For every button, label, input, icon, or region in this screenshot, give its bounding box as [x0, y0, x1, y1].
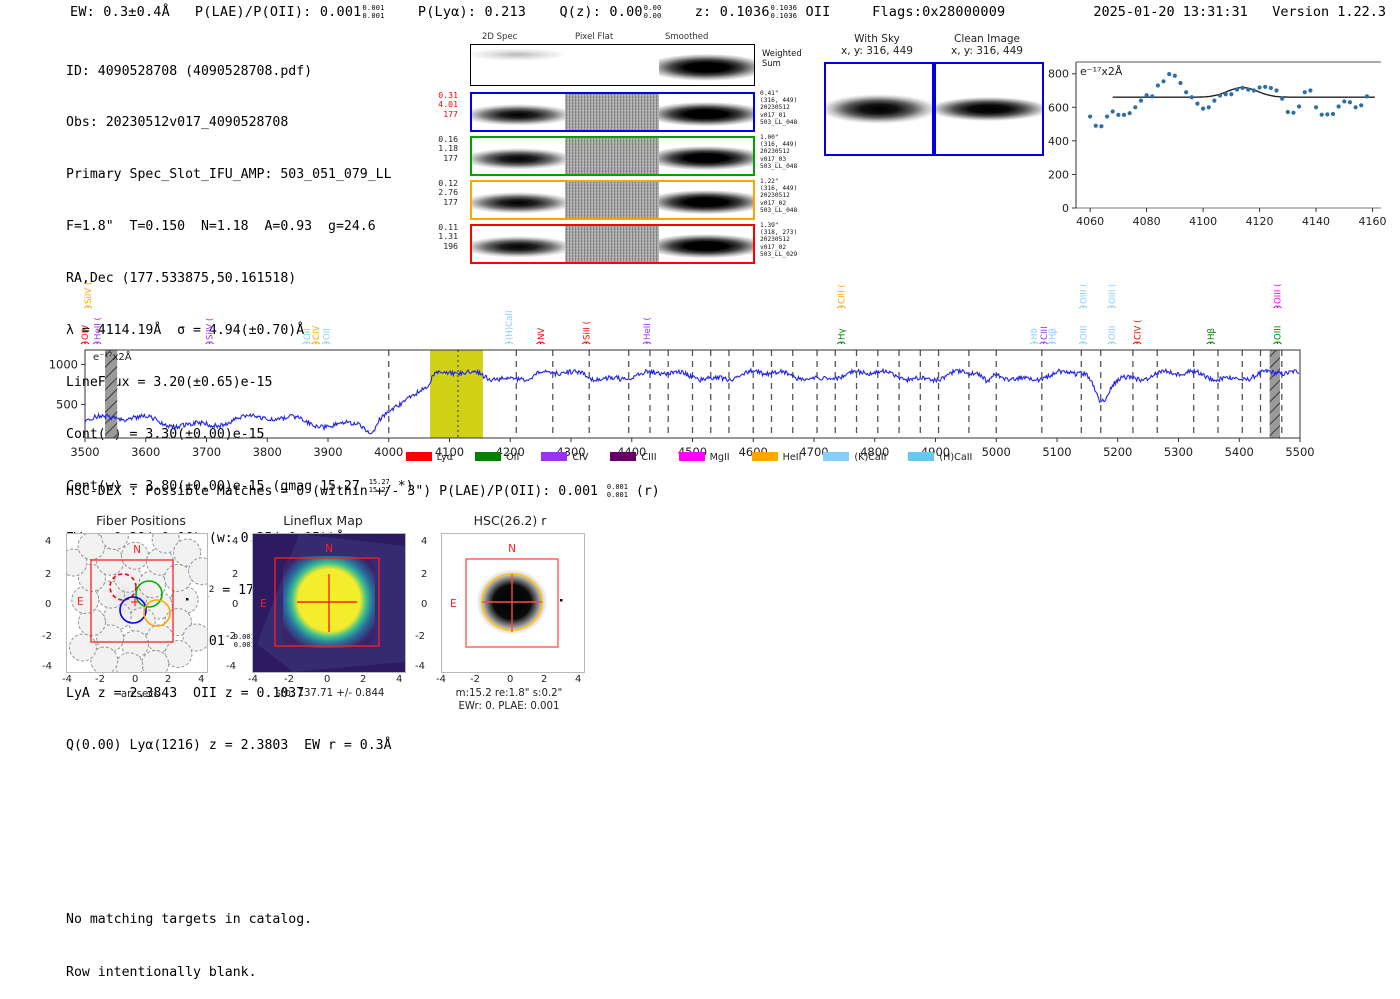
panel-title-fiber-positions: Fiber Positions	[66, 513, 216, 528]
svg-text:(H)CaII: (H)CaII	[505, 310, 515, 340]
hsc-xtick-1: -2	[470, 674, 480, 685]
cutout-with-sky-title: With Sky	[822, 33, 932, 45]
svg-text:800: 800	[1048, 68, 1069, 81]
legend-item-1: OII	[475, 452, 519, 463]
hsc-ytick-4: -4	[415, 661, 425, 672]
spec2d-row1-image-flat	[565, 94, 659, 130]
svg-text:600: 600	[1048, 101, 1069, 114]
fiber-xtick-4: 4	[198, 674, 204, 685]
svg-text:CIII (: CIII (	[838, 284, 848, 304]
header-plae-label: P(LAE)/P(OII): 0.001	[195, 4, 362, 20]
header-qz: Q(z): 0.00	[559, 4, 642, 20]
info-classification: Q(0.00) Lyα(1216) z = 2.3803 EW r = 0.3Å	[66, 737, 414, 754]
legend-label-6: (K)CaII	[854, 452, 886, 463]
spec2d-row4-image-2d	[472, 226, 565, 262]
legend-swatch-1	[475, 452, 501, 461]
svg-text:4080: 4080	[1133, 215, 1161, 228]
svg-text:e⁻¹⁷x2Å: e⁻¹⁷x2Å	[93, 350, 132, 363]
legend-item-0: Lyα	[406, 452, 453, 463]
fiber-xlabel: arcsecs	[85, 689, 195, 702]
lfm-ytick-2: 0	[232, 599, 238, 610]
hsc-xtick-0: -4	[436, 674, 446, 685]
svg-text:HeII (: HeII (	[643, 317, 653, 340]
spec2d-row4-image-flat	[565, 226, 659, 262]
spec2d-row3-left-label: 0.12 2.76 177	[412, 179, 458, 207]
hsc-ytick-2: 0	[421, 599, 427, 610]
footer-note: No matching targets in catalog. Row inte…	[66, 876, 312, 999]
svg-text:CIV (: CIV (	[1133, 320, 1143, 341]
svg-text:OIII (: OIII (	[1274, 284, 1284, 304]
spec2d-row3-image-smoothed	[659, 182, 753, 218]
svg-text:4160: 4160	[1359, 215, 1386, 228]
header-z: z: 0.1036	[695, 4, 770, 20]
legend-label-5: HeII	[783, 452, 802, 463]
spec2d-row1-image-smoothed	[659, 94, 753, 130]
fiber-positions-svg: NE	[67, 534, 207, 672]
spec2d-col-title-smoothed: Smoothed	[665, 32, 708, 42]
spec2d-row-weighted-sum[interactable]	[470, 44, 755, 86]
svg-text:500: 500	[56, 397, 78, 411]
header-z-kind: OII	[806, 4, 831, 20]
spec2d-row2-right-label: 1.00" (316, 449) 20230512 v017_03 503_LL…	[760, 134, 797, 170]
fiber-ytick-2: 0	[45, 599, 51, 610]
spec2d-row2-left-label: 0.16 1.18 177	[412, 135, 458, 163]
cutout-title-clean: Clean Image x, y: 316, 449	[927, 33, 1047, 57]
svg-text:4120: 4120	[1246, 215, 1274, 228]
hsc-sub-label: m:15.2 re:1.8" s:0.2"	[419, 688, 599, 701]
legend-swatch-2	[541, 452, 567, 461]
cutout-clean-title: Clean Image	[927, 33, 1047, 45]
fiber-ytick-0: 4	[45, 536, 51, 547]
svg-text:OIII (: OIII (	[1079, 284, 1089, 304]
full-spectrum-svg: 5001000350036003700380039004000410042004…	[0, 268, 1400, 478]
svg-text:E: E	[450, 598, 457, 610]
lfm-xtick-2: 0	[324, 674, 330, 685]
legend-label-4: MgII	[710, 452, 730, 463]
lfm-sub-label: s/b: 137.71 +/- 0.844	[240, 688, 420, 701]
svg-text:0: 0	[1062, 202, 1069, 215]
lfm-ytick-1: 2	[232, 569, 238, 580]
spec2d-row-4[interactable]	[470, 224, 755, 264]
svg-text:SiIV (: SiIV (	[206, 318, 216, 340]
legend-swatch-6	[823, 452, 849, 461]
legend-label-0: Lyα	[437, 452, 453, 463]
lfm-ytick-0: 4	[232, 536, 238, 547]
panel-title-lineflux-map: Lineflux Map	[243, 513, 403, 528]
legend-item-6: (K)CaII	[823, 452, 886, 463]
svg-text:4100: 4100	[1189, 215, 1217, 228]
spec2d-row2-image-flat	[565, 138, 659, 174]
svg-text:SiIV (: SiIV (	[84, 282, 94, 304]
svg-text:e⁻¹⁷x2Å: e⁻¹⁷x2Å	[1080, 65, 1123, 78]
svg-text:OIV: OIV	[81, 325, 91, 340]
spec2d-row4-left-label: 0.11 1.31 196	[412, 223, 458, 251]
fiber-ytick-4: -4	[42, 661, 52, 672]
lfm-ytick-4: -4	[226, 661, 236, 672]
svg-text:OIII: OIII	[1079, 326, 1089, 340]
fiber-xtick-0: -4	[62, 674, 72, 685]
cutout-with-sky-box[interactable]	[824, 62, 934, 156]
hsc-ytick-1: 2	[421, 569, 427, 580]
fiber-xtick-1: -2	[95, 674, 105, 685]
info-obs: Obs: 20230512v017_4090528708	[66, 114, 414, 131]
hsc-r-svg: NE	[442, 534, 584, 672]
legend-label-7: (H)CaII	[939, 452, 972, 463]
fiber-ytick-1: 2	[45, 569, 51, 580]
svg-text:OII: OII	[322, 328, 332, 340]
lfm-xtick-1: -2	[284, 674, 294, 685]
svg-text:E: E	[77, 596, 84, 608]
footer-line-1: No matching targets in catalog.	[66, 911, 312, 929]
spec2d-image-smoothed	[659, 45, 754, 85]
svg-text:Hγ: Hγ	[838, 328, 848, 340]
hsc-r-panel[interactable]: NE	[441, 533, 585, 673]
svg-text:Hδ: Hδ	[1030, 328, 1040, 340]
hsc-dex-summary: HSC-DEX : Possible Matches = 0 (within +…	[66, 483, 660, 499]
svg-text:OIII: OIII	[1274, 326, 1284, 340]
info-primary-spec-slot: Primary Spec_Slot_IFU_AMP: 503_051_079_L…	[66, 166, 414, 183]
cutout-title-with-sky: With Sky x, y: 316, 449	[822, 33, 932, 57]
legend-swatch-7	[908, 452, 934, 461]
spec2d-row2-image-2d	[472, 138, 565, 174]
panel-title-hsc-r: HSC(26.2) r	[430, 513, 590, 528]
hsc-sub-label-2: EWr: 0. PLAE: 0.001	[419, 701, 599, 714]
legend-label-2: CIV	[572, 452, 588, 463]
spec2d-panel-group: 2D Spec Pixel Flat Smoothed Weighted Sum…	[460, 32, 770, 262]
fiber-ytick-3: -2	[42, 631, 52, 642]
svg-text:SiII (: SiII (	[582, 321, 592, 340]
line-fit-svg: 0200400600800406040804100412041404160e⁻¹…	[1036, 48, 1386, 248]
svg-text:4060: 4060	[1076, 215, 1104, 228]
header-version: Version 1.22.3	[1272, 4, 1386, 20]
cutout-clean-box[interactable]	[934, 62, 1044, 156]
spec2d-col-title-flat: Pixel Flat	[575, 32, 613, 42]
spec2d-row-3[interactable]	[470, 180, 755, 220]
lfm-xtick-3: 2	[360, 674, 366, 685]
header-plya: P(Lyα): 0.213	[418, 4, 526, 20]
lfm-ytick-3: -2	[226, 631, 236, 642]
cutout-clean-coords: x, y: 316, 449	[927, 45, 1047, 57]
spec2d-image-flat	[564, 45, 659, 85]
spec2d-row3-right-label: 1.22" (316, 449) 20230512 v017_02 503_LL…	[760, 178, 797, 214]
legend-label-1: OII	[506, 452, 519, 463]
legend-label-3: CIII	[641, 452, 656, 463]
spec2d-row-1[interactable]	[470, 92, 755, 132]
svg-text:1000: 1000	[49, 357, 78, 371]
legend-swatch-0	[406, 452, 432, 461]
svg-text:400: 400	[1048, 135, 1069, 148]
hsc-xtick-3: 2	[541, 674, 547, 685]
info-id: ID: 4090528708 (4090528708.pdf)	[66, 63, 414, 80]
fiber-xtick-2: 0	[132, 674, 138, 685]
spec2d-col-title-2d: 2D Spec	[482, 32, 517, 42]
lineflux-map-panel[interactable]: NE	[252, 533, 406, 673]
svg-text:Hβ: Hβ	[1048, 328, 1058, 340]
cutout-with-sky-image	[826, 64, 932, 154]
svg-text:E: E	[260, 598, 267, 610]
spec2d-row3-image-flat	[565, 182, 659, 218]
spec2d-row3-image-2d	[472, 182, 565, 218]
header-datetime-version: 2025-01-20 13:31:31 Version 1.22.3	[1093, 4, 1386, 20]
header-z-errors: 0.10360.1036	[771, 4, 798, 20]
fiber-xtick-3: 2	[165, 674, 171, 685]
header-ew: EW: 0.3±0.4Å	[70, 4, 170, 20]
legend-item-3: CIII	[610, 452, 656, 463]
legend-item-7: (H)CaII	[908, 452, 972, 463]
legend-item-4: MgII	[679, 452, 730, 463]
hsc-dex-plae-errors: 0.0010.001	[607, 483, 628, 499]
svg-text:HeII (: HeII (	[93, 317, 103, 340]
header-qz-errors: 0.000.00	[644, 4, 662, 20]
svg-text:Hβ: Hβ	[1207, 328, 1217, 340]
svg-text:N: N	[508, 543, 516, 555]
full-spectrum-plot[interactable]: 5001000350036003700380039004000410042004…	[0, 268, 1400, 478]
hsc-ytick-3: -2	[415, 631, 425, 642]
hsc-dex-text: HSC-DEX : Possible Matches = 0 (within +…	[66, 484, 606, 499]
hsc-dex-filter: (r)	[628, 484, 660, 499]
legend-swatch-5	[752, 452, 778, 461]
header-flags: Flags:0x28000009	[872, 4, 1005, 20]
hsc-xtick-2: 0	[507, 674, 513, 685]
hsc-xtick-4: 4	[575, 674, 581, 685]
spectrum-legend: LyαOIICIVCIIIMgIIHeII(K)CaII(H)CaII	[0, 452, 1400, 463]
spec2d-row2-image-smoothed	[659, 138, 753, 174]
svg-text:N: N	[133, 544, 141, 556]
svg-text:N: N	[325, 543, 333, 555]
spec2d-row1-image-2d	[472, 94, 565, 130]
svg-text:OIII: OIII	[1108, 326, 1118, 340]
spec2d-row4-right-label: 1.39" (318, 273) 20230512 v017_02 503_LL…	[760, 222, 797, 258]
header-datetime: 2025-01-20 13:31:31	[1093, 4, 1247, 20]
svg-text:OIII (: OIII (	[1108, 284, 1118, 304]
svg-text:CIV: CIV	[312, 325, 322, 340]
info-seeing-params: F=1.8" T=0.150 N=1.18 A=0.93 g=24.6	[66, 218, 414, 235]
legend-item-5: HeII	[752, 452, 802, 463]
cutout-with-sky-coords: x, y: 316, 449	[822, 45, 932, 57]
cutout-clean-image	[936, 64, 1042, 154]
line-fit-plot[interactable]: 0200400600800406040804100412041404160e⁻¹…	[1036, 48, 1386, 248]
lineflux-map-svg: NE	[253, 534, 405, 672]
spec2d-row-2[interactable]	[470, 136, 755, 176]
svg-text:NV: NV	[537, 328, 547, 340]
spec2d-row4-image-smoothed	[659, 226, 753, 262]
hsc-ytick-0: 4	[421, 536, 427, 547]
legend-item-2: CIV	[541, 452, 588, 463]
spec2d-row1-left-label: 0.31 4.01 177	[412, 91, 458, 119]
lfm-xtick-0: -4	[248, 674, 258, 685]
footer-line-2: Row intentionally blank.	[66, 964, 312, 982]
spec2d-image-2d	[471, 45, 564, 85]
spec2d-weighted-sum-label: Weighted Sum	[762, 48, 802, 68]
legend-swatch-4	[679, 452, 705, 461]
svg-text:4140: 4140	[1302, 215, 1330, 228]
fiber-positions-panel[interactable]: NE	[66, 533, 208, 673]
header-summary-line: EW: 0.3±0.4Å P(LAE)/P(OII): 0.0010.0010.…	[70, 4, 1005, 20]
lfm-xtick-4: 4	[396, 674, 402, 685]
legend-swatch-3	[610, 452, 636, 461]
svg-text:200: 200	[1048, 168, 1069, 181]
spec2d-row1-right-label: 0.41" (316, 449) 20230512 v017_01 503_LL…	[760, 90, 797, 126]
header-plae-errors: 0.0010.001	[362, 4, 384, 20]
